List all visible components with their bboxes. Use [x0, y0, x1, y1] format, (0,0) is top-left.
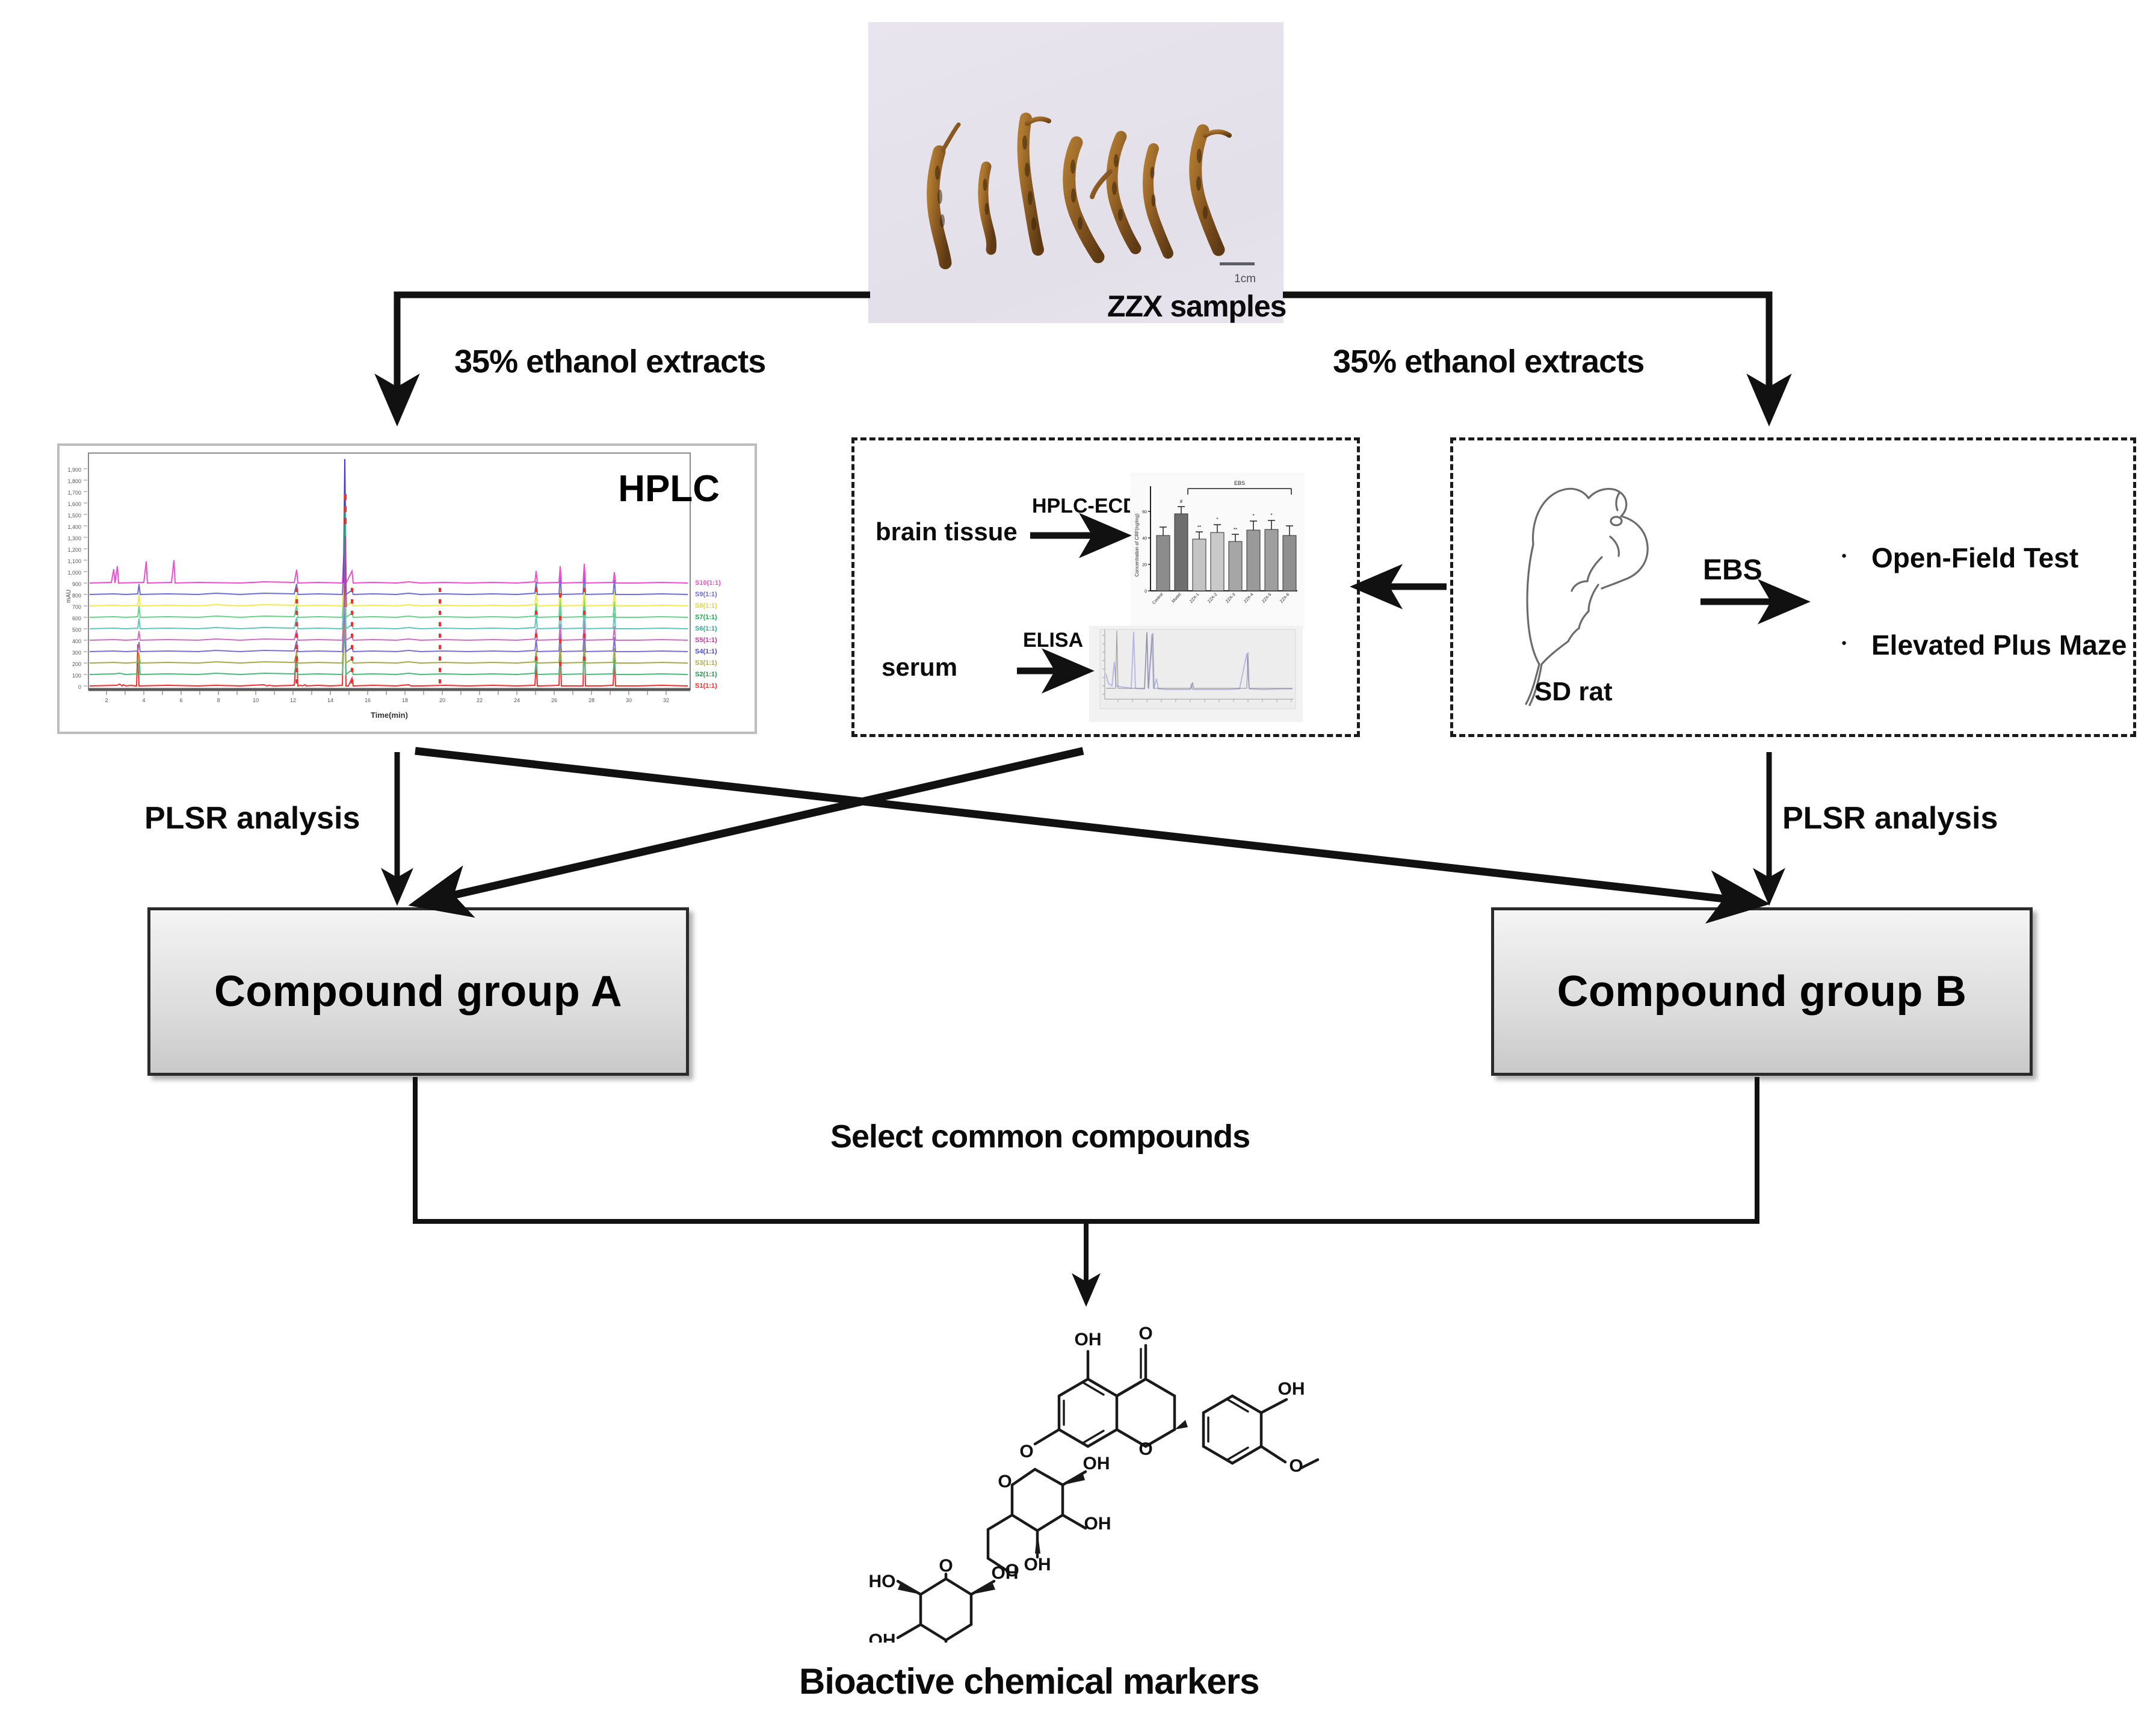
- svg-text:800: 800: [72, 593, 81, 599]
- svg-text:8: 8: [217, 697, 220, 703]
- extract-label-left: 35% ethanol extracts: [454, 343, 765, 380]
- scale-bar: [1220, 262, 1255, 265]
- crf-bar-chart-svg: Concentration of CRF(ng/mg) 020 4060 EBS: [1130, 473, 1305, 629]
- compound-group-a-box: Compound group A: [147, 907, 689, 1076]
- svg-text:**: **: [1197, 525, 1201, 530]
- svg-text:28: 28: [588, 697, 595, 703]
- label-oh-glc2: OH: [1083, 1454, 1110, 1473]
- label-o-ketone: O: [1138, 1324, 1152, 1344]
- figure-canvas: 1cm ZZX samples 1,9001,800 1,7001,600 1,…: [0, 0, 2156, 1728]
- svg-text:S1(1:1): S1(1:1): [695, 682, 717, 690]
- svg-text:EBS: EBS: [1234, 480, 1245, 486]
- compound-group-a-label: Compound group A: [214, 967, 622, 1016]
- svg-text:1,300: 1,300: [67, 535, 81, 542]
- ebs-label: EBS: [1703, 554, 1762, 587]
- svg-text:18: 18: [402, 697, 408, 703]
- open-field-test-label: Open-Field Test: [1871, 542, 2078, 574]
- label-oh-5: OH: [1075, 1330, 1102, 1350]
- svg-text:1,100: 1,100: [67, 558, 81, 564]
- svg-text:1,700: 1,700: [67, 490, 81, 496]
- svg-text:1,900: 1,900: [67, 467, 81, 473]
- svg-text:1,800: 1,800: [67, 478, 81, 484]
- svg-text:1,000: 1,000: [67, 570, 81, 576]
- select-common-compounds-label: Select common compounds: [830, 1118, 1250, 1155]
- label-oh-rha3: OH: [869, 1631, 896, 1643]
- svg-text:100: 100: [72, 673, 81, 679]
- label-o-glc-ring: O: [998, 1472, 1012, 1492]
- bioactive-markers-caption: Bioactive chemical markers: [799, 1661, 1259, 1702]
- zzx-specimens: [868, 22, 1283, 323]
- svg-text:400: 400: [72, 638, 81, 644]
- hesperidin-structure: OH O O O OH O OH OH OH O O O HO OH OH OH: [860, 1294, 1354, 1643]
- svg-text:0: 0: [1144, 590, 1147, 594]
- serum-label: serum: [882, 653, 957, 682]
- scale-bar-label: 1cm: [1234, 273, 1256, 286]
- compound-group-b-box: Compound group B: [1491, 907, 2033, 1076]
- svg-text:200: 200: [72, 661, 81, 667]
- svg-text:600: 600: [72, 616, 81, 622]
- svg-text:500: 500: [72, 627, 81, 633]
- svg-text:S6(1:1): S6(1:1): [695, 625, 717, 632]
- elisa-chromatogram: [1089, 626, 1303, 722]
- svg-text:S5(1:1): S5(1:1): [695, 637, 717, 644]
- hplc-title: HPLC: [618, 467, 720, 510]
- zzx-sample-photo: 1cm: [868, 22, 1283, 323]
- svg-text:S8(1:1): S8(1:1): [695, 602, 717, 609]
- sd-rat-label: SD rat: [1534, 677, 1613, 707]
- svg-text:20: 20: [439, 697, 445, 703]
- brain-tissue-label: brain tissue: [876, 517, 1018, 546]
- label-oh-glc3: OH: [1084, 1514, 1111, 1534]
- svg-text:10: 10: [253, 697, 259, 703]
- plsr-label-left: PLSR analysis: [144, 800, 360, 836]
- svg-text:Concentration of CRF(ng/mg): Concentration of CRF(ng/mg): [1134, 513, 1140, 576]
- svg-text:16: 16: [365, 697, 371, 703]
- hesperidin-svg: OH O O O OH O OH OH OH O O O HO OH OH OH: [860, 1294, 1354, 1643]
- svg-text:#: #: [1180, 499, 1183, 504]
- svg-text:14: 14: [327, 697, 333, 703]
- svg-text:*: *: [1216, 517, 1218, 522]
- hplc-ecd-label: HPLC-ECD: [1032, 495, 1138, 518]
- hplc-chromatogram-panel: 1,9001,800 1,7001,600 1,5001,400 1,3001,…: [57, 443, 757, 734]
- svg-text:32: 32: [663, 697, 669, 703]
- svg-text:22: 22: [477, 697, 483, 703]
- crf-bar-chart: Concentration of CRF(ng/mg) 020 4060 EBS: [1130, 473, 1305, 629]
- label-oh-3prime: OH: [1278, 1379, 1305, 1399]
- svg-text:26: 26: [551, 697, 557, 703]
- svg-text:*: *: [1270, 513, 1272, 518]
- svg-text:12: 12: [290, 697, 296, 703]
- svg-text:**: **: [1234, 527, 1237, 532]
- extract-label-right: 35% ethanol extracts: [1333, 343, 1644, 380]
- svg-text:S10(1:1): S10(1:1): [695, 579, 721, 587]
- svg-text:4: 4: [142, 697, 145, 703]
- svg-text:Time(min): Time(min): [371, 711, 408, 720]
- svg-text:20: 20: [1142, 563, 1147, 567]
- svg-text:30: 30: [626, 697, 632, 703]
- label-o-glycosidic: O: [1019, 1442, 1033, 1461]
- arrow-cross-to-group-a: [421, 751, 1083, 903]
- svg-text:*: *: [1252, 513, 1254, 519]
- svg-text:1,200: 1,200: [67, 547, 81, 553]
- svg-text:2: 2: [105, 697, 108, 703]
- bullet-open-field: ●: [1841, 551, 1847, 561]
- svg-text:S4(1:1): S4(1:1): [695, 648, 717, 655]
- label-oh-rha2: OH: [992, 1563, 1019, 1583]
- svg-text:mAU: mAU: [66, 590, 72, 603]
- svg-text:1,400: 1,400: [67, 524, 81, 530]
- svg-text:300: 300: [72, 650, 81, 656]
- arrow-cross-to-group-b: [415, 751, 1757, 903]
- compound-group-b-label: Compound group B: [1557, 967, 1967, 1016]
- svg-text:S2(1:1): S2(1:1): [695, 671, 717, 678]
- label-o-pyran: O: [1138, 1439, 1152, 1459]
- svg-text:40: 40: [1142, 537, 1147, 541]
- bullet-elevated-plus-maze: ●: [1841, 638, 1847, 648]
- elisa-chromatogram-svg: [1089, 626, 1303, 722]
- plsr-label-right: PLSR analysis: [1782, 800, 1998, 836]
- svg-text:24: 24: [514, 697, 520, 703]
- zzx-samples-label: ZZX samples: [1107, 289, 1286, 324]
- elisa-label: ELISA: [1023, 629, 1083, 652]
- svg-text:60: 60: [1142, 510, 1147, 514]
- svg-text:6: 6: [179, 697, 182, 703]
- svg-text:1,600: 1,600: [67, 501, 81, 507]
- label-oh-glc4: OH: [1024, 1555, 1051, 1575]
- label-o-methoxy: O: [1289, 1456, 1303, 1476]
- svg-text:0: 0: [78, 684, 81, 690]
- label-o-rha-ring: O: [939, 1556, 953, 1576]
- svg-text:1,500: 1,500: [67, 513, 81, 519]
- svg-text:S9(1:1): S9(1:1): [695, 591, 717, 598]
- svg-text:S3(1:1): S3(1:1): [695, 659, 717, 667]
- svg-text:S7(1:1): S7(1:1): [695, 614, 717, 621]
- svg-text:700: 700: [72, 604, 81, 610]
- svg-text:900: 900: [72, 581, 81, 587]
- label-ho-rha: HO: [869, 1572, 896, 1591]
- elevated-plus-maze-label: Elevated Plus Maze: [1871, 629, 2127, 661]
